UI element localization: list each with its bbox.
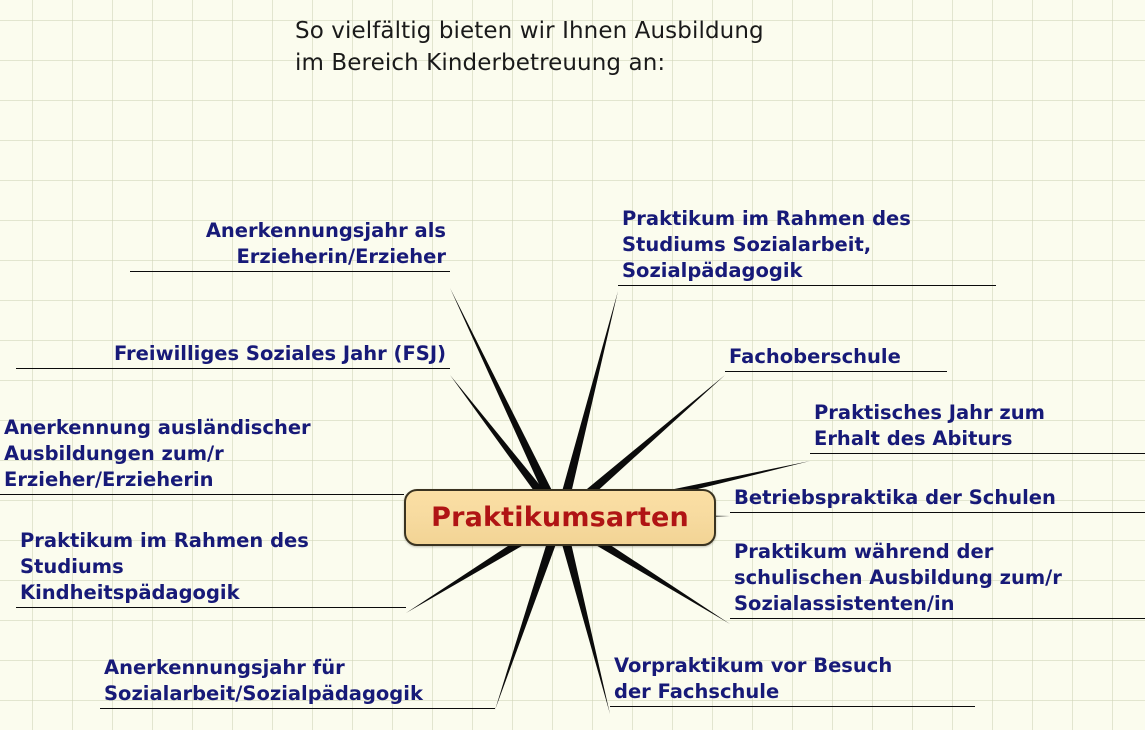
leaf-node-fachoberschule[interactable]: Fachoberschule [725, 344, 947, 372]
leaf-label-vorpraktikum-fachschule: Vorpraktikum vor Besuch der Fachschule [610, 653, 975, 706]
leaf-node-fsj[interactable]: Freiwilliges Soziales Jahr (FSJ) [16, 341, 450, 369]
leaf-label-betriebspraktika-schulen: Betriebspraktika der Schulen [730, 485, 1145, 512]
page-title: So vielfältig bieten wir Ihnen Ausbildun… [295, 16, 764, 79]
leaf-underline-betriebspraktika-schulen [730, 512, 1145, 513]
leaf-underline-praktikum-studium-sozialarbeit [618, 285, 996, 286]
leaf-label-praktisches-jahr-abitur: Praktisches Jahr zum Erhalt des Abiturs [810, 400, 1145, 453]
leaf-underline-vorpraktikum-fachschule [610, 706, 975, 707]
leaf-node-praktikum-studium-kindheitspaedagogik[interactable]: Praktikum im Rahmen des Studiums Kindhei… [16, 528, 406, 608]
leaf-label-anerkennungsjahr-sozialarbeit: Anerkennungsjahr für Sozialarbeit/Sozial… [100, 655, 495, 708]
center-node-label: Praktikumsarten [431, 502, 689, 533]
leaf-node-praktikum-studium-sozialarbeit[interactable]: Praktikum im Rahmen des Studiums Soziala… [618, 206, 996, 286]
branch-connector-vorpraktikum-fachschule [555, 517, 610, 714]
center-node-praktikumsarten[interactable]: Praktikumsarten [404, 489, 716, 546]
leaf-underline-anerkennung-auslaendischer-ausbildungen [0, 494, 404, 495]
leaf-label-praktikum-studium-kindheitspaedagogik: Praktikum im Rahmen des Studiums Kindhei… [16, 528, 406, 607]
leaf-label-praktikum-schulische-ausbildung: Praktikum während der schulischen Ausbil… [730, 539, 1145, 618]
leaf-label-fsj: Freiwilliges Soziales Jahr (FSJ) [16, 341, 450, 368]
leaf-underline-anerkennungsjahr-erzieher [130, 271, 450, 272]
leaf-underline-anerkennungsjahr-sozialarbeit [100, 708, 495, 709]
leaf-underline-praktisches-jahr-abitur [810, 453, 1145, 454]
leaf-node-anerkennungsjahr-sozialarbeit[interactable]: Anerkennungsjahr für Sozialarbeit/Sozial… [100, 655, 495, 709]
leaf-underline-praktikum-schulische-ausbildung [730, 618, 1145, 619]
mindmap-canvas: So vielfältig bieten wir Ihnen Ausbildun… [0, 0, 1145, 730]
branch-connector-anerkennungsjahr-erzieher [450, 288, 565, 520]
leaf-underline-fachoberschule [725, 371, 947, 372]
leaf-label-anerkennungsjahr-erzieher: Anerkennungsjahr als Erzieherin/Erzieher [130, 218, 450, 271]
leaf-node-vorpraktikum-fachschule[interactable]: Vorpraktikum vor Besuch der Fachschule [610, 653, 975, 707]
leaf-node-anerkennungsjahr-erzieher[interactable]: Anerkennungsjahr als Erzieherin/Erzieher [130, 218, 450, 272]
branch-connector-praktikum-studium-sozialarbeit [555, 291, 618, 519]
leaf-label-fachoberschule: Fachoberschule [725, 344, 947, 371]
leaf-label-praktikum-studium-sozialarbeit: Praktikum im Rahmen des Studiums Soziala… [618, 206, 996, 285]
leaf-node-praktikum-schulische-ausbildung[interactable]: Praktikum während der schulischen Ausbil… [730, 539, 1145, 619]
leaf-node-betriebspraktika-schulen[interactable]: Betriebspraktika der Schulen [730, 485, 1145, 513]
leaf-node-anerkennung-auslaendischer-ausbildungen[interactable]: Anerkennung ausländischer Ausbildungen z… [0, 415, 404, 495]
leaf-underline-praktikum-studium-kindheitspaedagogik [16, 607, 406, 608]
leaf-label-anerkennung-auslaendischer-ausbildungen: Anerkennung ausländischer Ausbildungen z… [0, 415, 404, 494]
leaf-node-praktisches-jahr-abitur[interactable]: Praktisches Jahr zum Erhalt des Abiturs [810, 400, 1145, 454]
leaf-underline-fsj [16, 368, 450, 369]
